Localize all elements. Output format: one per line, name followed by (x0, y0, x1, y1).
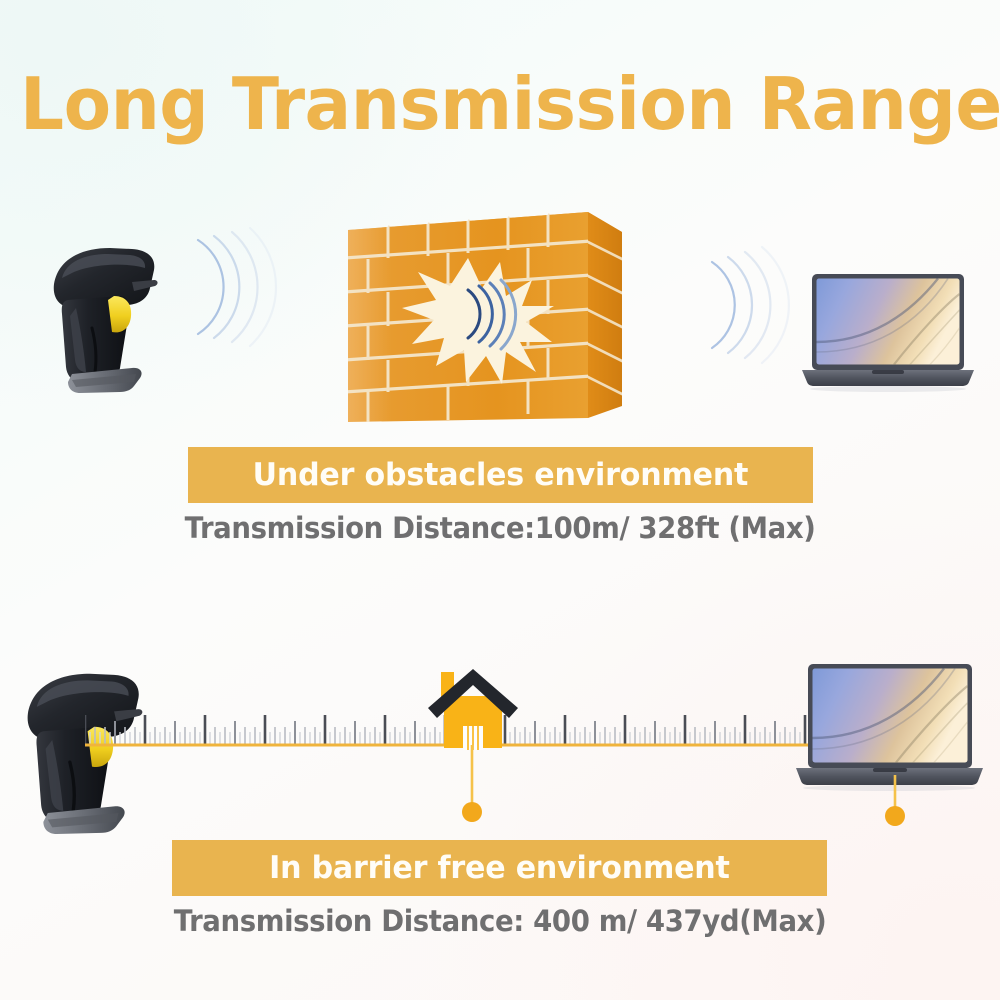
distance-label-obstacles: Transmission Distance:100m/ 328ft (Max) (25, 511, 975, 545)
page-title: Long Transmission Range (20, 62, 980, 146)
banner-label-obstacles: Under obstacles environment (253, 457, 749, 493)
brick-wall-icon (340, 196, 640, 436)
banner-under-obstacles: Under obstacles environment (188, 447, 813, 503)
banner-label-barrier-free: In barrier free environment (269, 850, 730, 886)
laptop-icon-bottom (792, 660, 987, 792)
marker-pin-icon-house (455, 745, 489, 823)
banner-barrier-free: In barrier free environment (172, 840, 827, 896)
marker-pin-icon-laptop (878, 775, 912, 827)
infographic-canvas: Long Transmission Range (0, 0, 1000, 1000)
laptop-icon-top (798, 270, 978, 392)
wifi-waves-icon-left (190, 222, 290, 352)
distance-label-barrier-free: Transmission Distance: 400 m/ 437yd(Max) (25, 904, 975, 938)
house-icon (418, 660, 528, 752)
wifi-waves-icon-right (698, 240, 808, 370)
